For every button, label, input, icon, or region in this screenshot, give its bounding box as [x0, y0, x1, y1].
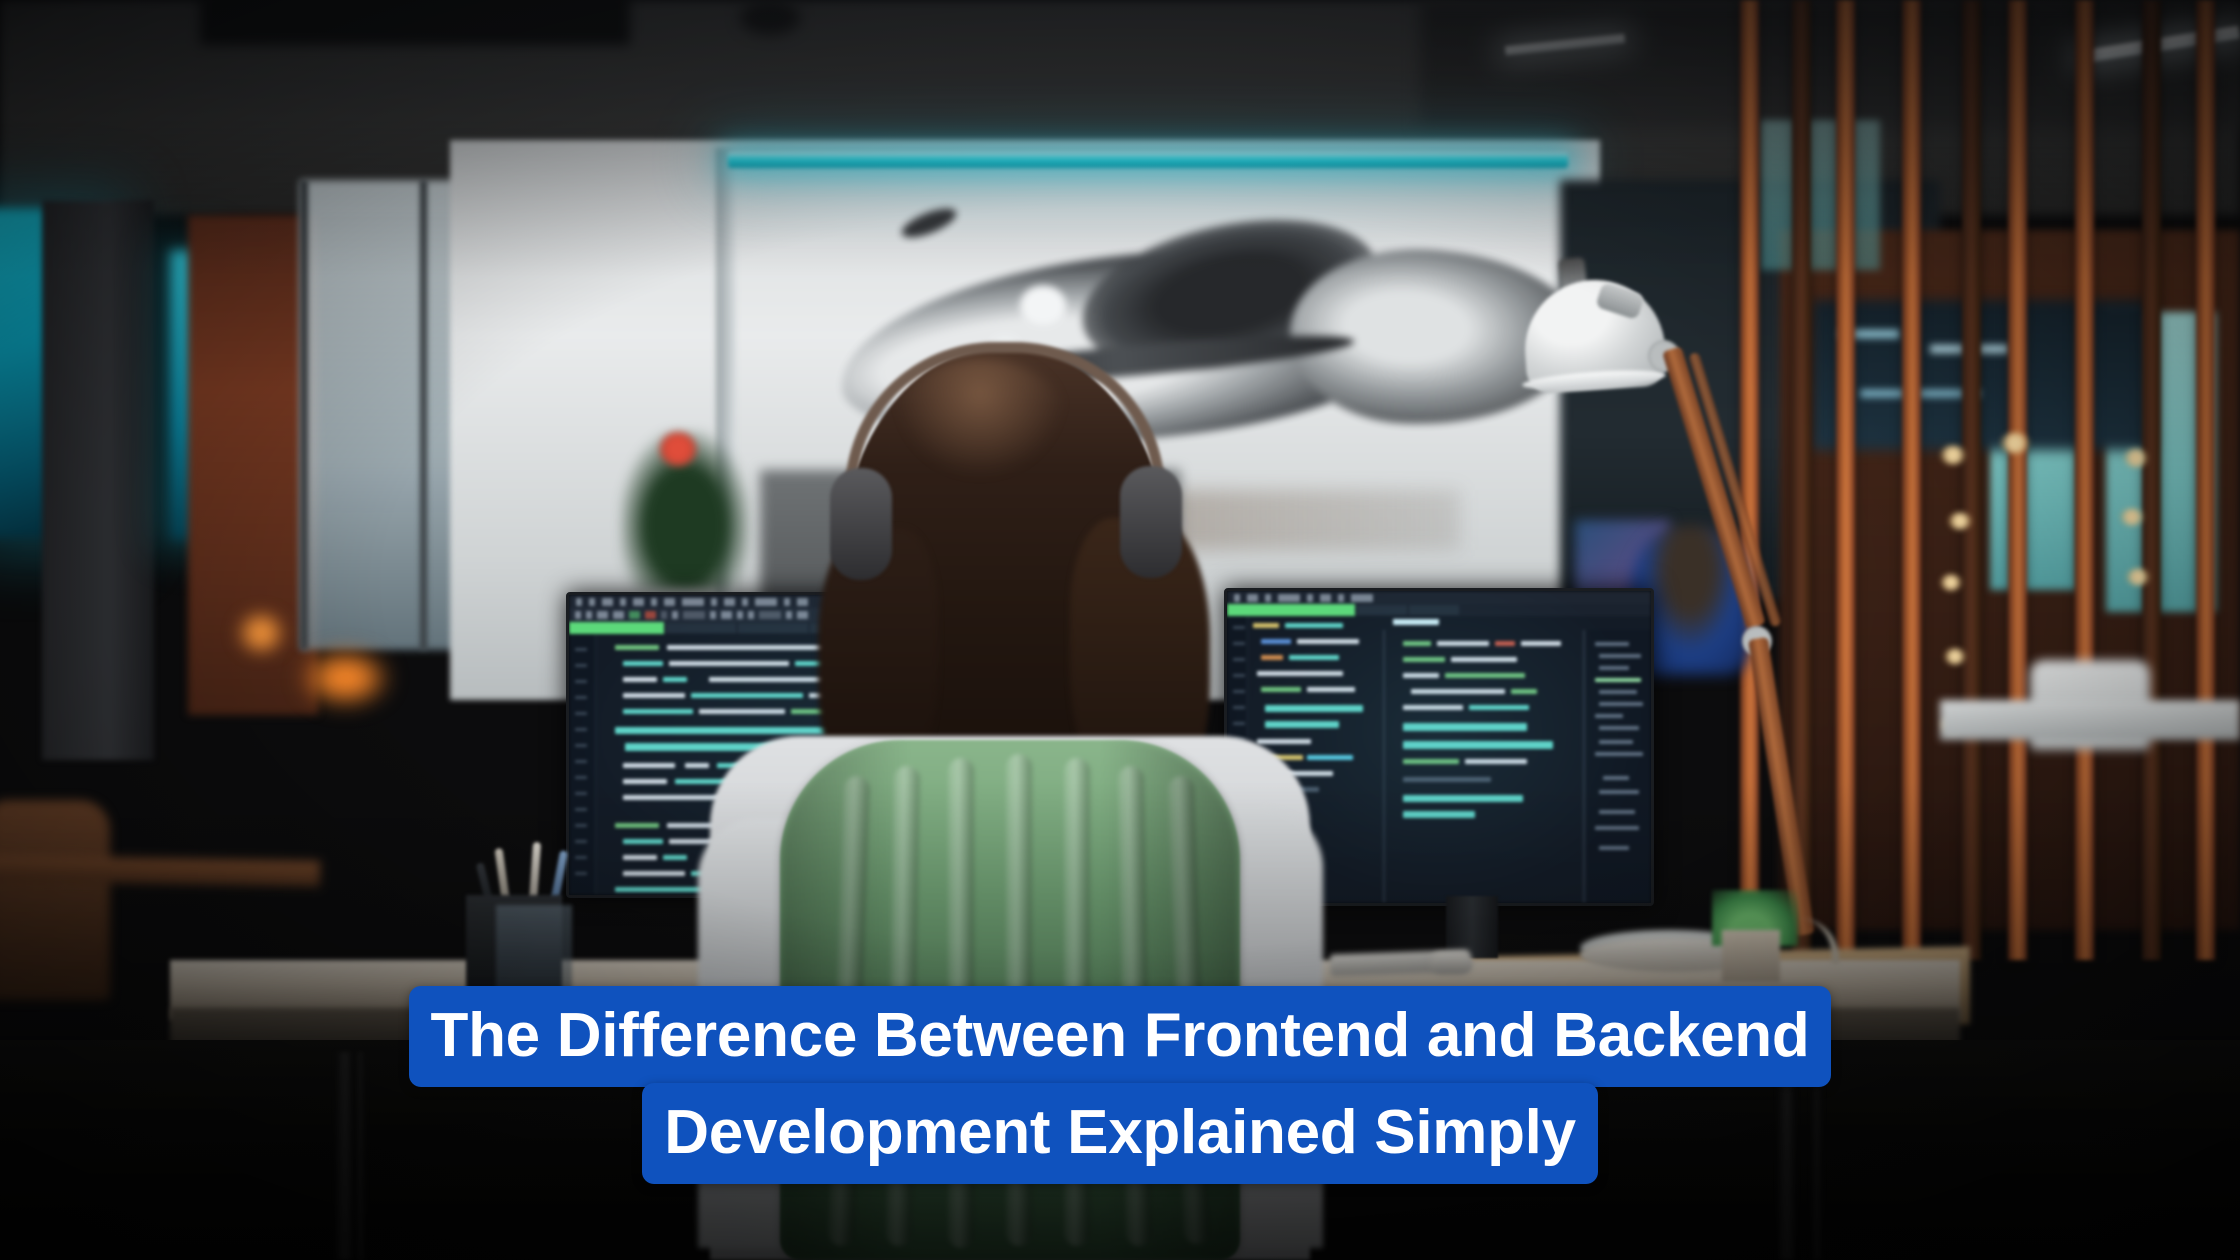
bokeh-light — [2120, 508, 2144, 526]
bokeh-light — [2124, 448, 2148, 468]
warm-bokeh-light — [236, 612, 286, 654]
headphone-earcup-left — [830, 468, 892, 580]
office-chair-left — [0, 800, 110, 1000]
background-monitor-wall — [1812, 300, 2152, 450]
bokeh-light — [1940, 574, 1962, 591]
divider-slat — [2008, 0, 2027, 960]
ide-file-explorer[interactable] — [1587, 630, 1651, 903]
neon-light-strip — [728, 152, 1568, 168]
mouse[interactable] — [1430, 952, 1472, 974]
ide-line-number-gutter — [569, 634, 596, 895]
hero-image: The Difference Between Frontend and Back… — [0, 0, 2240, 1260]
mullion — [300, 180, 308, 650]
title-line-2: Development Explained Simply — [642, 1083, 1598, 1184]
bokeh-light — [1948, 512, 1972, 530]
divider-slat — [1962, 0, 1981, 960]
ceiling-fixture — [740, 0, 800, 35]
ide-code-pane-center[interactable] — [1389, 619, 1579, 901]
bokeh-light — [2126, 568, 2150, 586]
divider-slat — [1740, 0, 1759, 960]
mullion — [420, 180, 427, 650]
divider-slat — [1902, 0, 1921, 960]
divider-slat — [2196, 0, 2215, 960]
title-overlay: The Difference Between Frontend and Back… — [0, 986, 2240, 1184]
bokeh-light — [1940, 445, 1966, 465]
divider-slat — [2075, 0, 2094, 960]
teal-glass-pane — [1760, 120, 1880, 270]
bokeh-light — [1944, 648, 1966, 665]
ide-pane-divider[interactable] — [1383, 630, 1385, 903]
headphone-earcup-right — [1120, 466, 1182, 578]
background-table — [1940, 700, 2240, 740]
chair-rail — [0, 855, 320, 887]
ceiling-dark-band — [1420, 0, 2240, 130]
right-monitor-stand — [1446, 896, 1498, 958]
active-tab[interactable] — [569, 622, 664, 634]
warm-bokeh-light — [300, 648, 390, 708]
divider-slat — [2142, 0, 2161, 960]
ide-pane-divider[interactable] — [1583, 630, 1585, 903]
ceiling-vent — [200, 0, 630, 45]
bokeh-light — [2000, 432, 2030, 454]
structural-column — [42, 200, 154, 760]
headphone-band — [845, 342, 1165, 492]
title-line-1: The Difference Between Frontend and Back… — [409, 986, 1832, 1087]
divider-slat — [1836, 0, 1855, 960]
